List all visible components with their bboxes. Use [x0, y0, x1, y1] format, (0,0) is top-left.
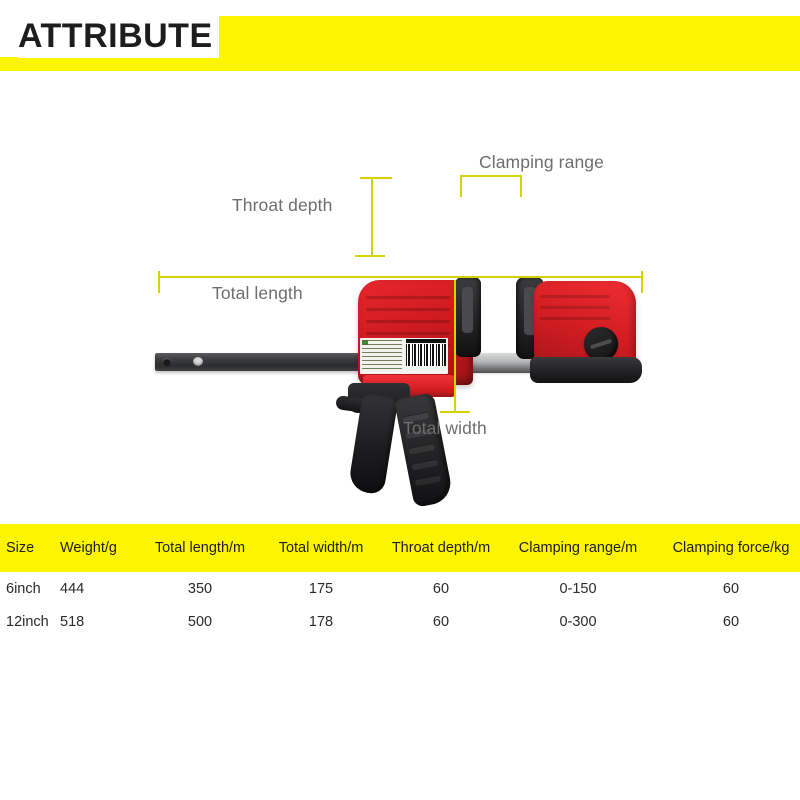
clamp-handle [394, 392, 454, 508]
cell-throat-depth: 60 [380, 605, 502, 638]
column-header-size: Size [0, 524, 58, 572]
column-header-total-width: Total width/m [262, 524, 380, 572]
barcode-icon [406, 344, 446, 366]
header-accent-underline [0, 57, 800, 71]
cell-weight: 444 [58, 572, 138, 605]
page-header: ATTRIBUTE [0, 0, 800, 80]
annotation-total-length: Total length [212, 283, 303, 304]
measure-line-throat-depth-bottom [355, 255, 385, 257]
measure-line-throat-depth-top [360, 177, 392, 179]
measure-line-total-length [158, 276, 643, 278]
clamp-adjust-knob-icon [584, 327, 618, 361]
measure-line-clamping-range-span [460, 175, 522, 177]
measure-line-total-length-left [158, 271, 160, 293]
measure-line-clamping-range-left [460, 175, 462, 197]
clamp-fixed-head-foot [530, 357, 642, 383]
spec-table-body: 6inch 444 350 175 60 0-150 60 12inch 518… [0, 572, 800, 638]
measure-line-total-width-bottom [440, 411, 470, 413]
cell-clamping-range: 0-300 [502, 605, 654, 638]
clamp-left-jaw-pad [455, 277, 481, 357]
cell-size: 6inch [0, 572, 58, 605]
spec-table-container: Size Weight/g Total length/m Total width… [0, 524, 800, 638]
barcode-number [406, 339, 446, 343]
measure-line-total-length-right [641, 271, 643, 293]
spec-table-head: Size Weight/g Total length/m Total width… [0, 524, 800, 572]
measure-line-total-width [454, 280, 456, 412]
label-spec-text [362, 340, 402, 372]
cell-total-length: 350 [138, 572, 262, 605]
table-row: 12inch 518 500 178 60 0-300 60 [0, 605, 800, 638]
table-header-row: Size Weight/g Total length/m Total width… [0, 524, 800, 572]
knob-slot [590, 339, 612, 350]
column-header-clamping-force: Clamping force/kg [654, 524, 800, 572]
column-header-throat-depth: Throat depth/m [380, 524, 502, 572]
measure-line-throat-depth [371, 177, 373, 257]
spec-table: Size Weight/g Total length/m Total width… [0, 524, 800, 638]
page-title: ATTRIBUTE [18, 14, 219, 58]
header-accent-bar [205, 16, 800, 60]
measure-line-clamping-range-right [520, 175, 522, 197]
cell-total-width: 178 [262, 605, 380, 638]
cell-total-width: 175 [262, 572, 380, 605]
annotation-throat-depth: Throat depth [232, 195, 332, 216]
cell-total-length: 500 [138, 605, 262, 638]
cell-weight: 518 [58, 605, 138, 638]
product-label-sticker [360, 338, 448, 374]
cell-clamping-force: 60 [654, 605, 800, 638]
cell-clamping-force: 60 [654, 572, 800, 605]
column-header-weight: Weight/g [58, 524, 138, 572]
cell-clamping-range: 0-150 [502, 572, 654, 605]
bar-clamp-illustration [0, 95, 800, 505]
table-row: 6inch 444 350 175 60 0-150 60 [0, 572, 800, 605]
column-header-clamping-range: Clamping range/m [502, 524, 654, 572]
cell-throat-depth: 60 [380, 572, 502, 605]
column-header-total-length: Total length/m [138, 524, 262, 572]
annotation-total-width: Total width [403, 418, 487, 439]
cell-size: 12inch [0, 605, 58, 638]
annotation-clamping-range: Clamping range [479, 152, 604, 173]
product-figure: Clamping range Throat depth Total length… [0, 95, 800, 505]
bar-hole-icon [163, 358, 171, 366]
bar-hole-icon [193, 357, 203, 366]
jaw-pad-slot [462, 287, 473, 333]
